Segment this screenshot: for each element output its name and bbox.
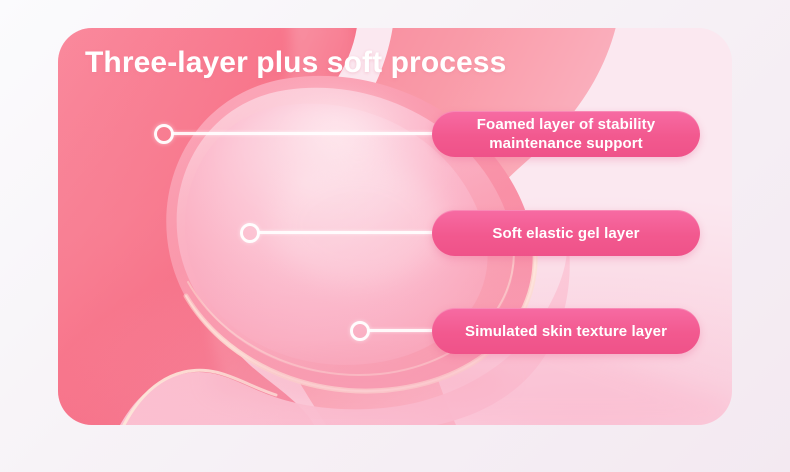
callout-label-text: Foamed layer of stability maintenance su… bbox=[477, 115, 655, 153]
callout-label-skin-layer[interactable]: Simulated skin texture layer bbox=[432, 308, 700, 354]
ring-marker-icon[interactable] bbox=[154, 124, 174, 144]
callout-label-foamed-layer[interactable]: Foamed layer of stability maintenance su… bbox=[432, 111, 700, 157]
callout-connector-gel-layer bbox=[240, 223, 438, 243]
ring-marker-icon[interactable] bbox=[350, 321, 370, 341]
callout-label-gel-layer[interactable]: Soft elastic gel layer bbox=[432, 210, 700, 256]
connector-line bbox=[368, 329, 438, 332]
callout-label-line1: Foamed layer of stability bbox=[477, 116, 655, 133]
callout-label-text: Soft elastic gel layer bbox=[492, 224, 639, 243]
callout-connector-foamed-layer bbox=[154, 124, 438, 144]
connector-line bbox=[258, 231, 438, 234]
callout-label-line2: maintenance support bbox=[489, 135, 643, 152]
page-title: Three-layer plus soft process bbox=[85, 46, 506, 80]
ring-marker-icon[interactable] bbox=[240, 223, 260, 243]
connector-line bbox=[172, 132, 438, 135]
illustration-card: Three-layer plus soft process Foamed lay… bbox=[58, 28, 732, 425]
callout-connector-skin-layer bbox=[350, 321, 438, 341]
graphic-canvas: Three-layer plus soft process Foamed lay… bbox=[0, 0, 790, 472]
callout-label-text: Simulated skin texture layer bbox=[465, 322, 667, 341]
